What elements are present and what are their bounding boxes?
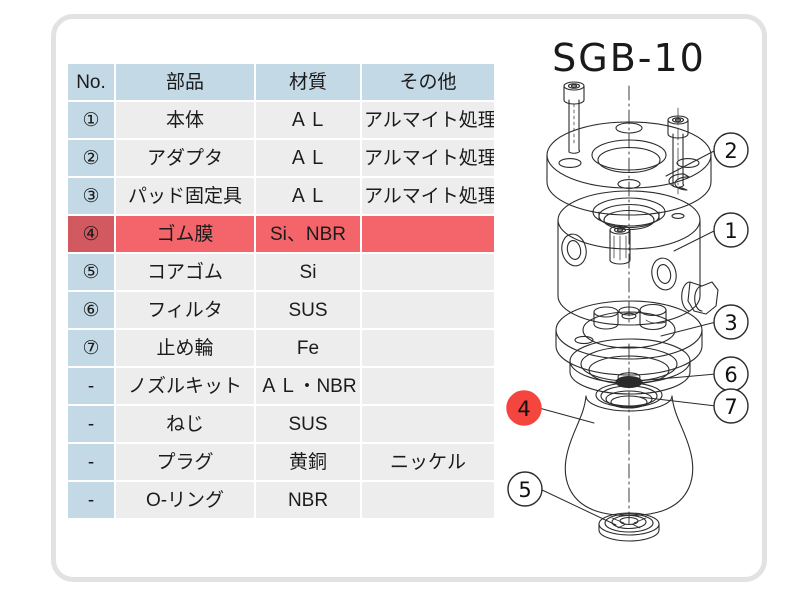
table-row: ⑦止め輪Fe bbox=[68, 330, 494, 366]
table-row: -プラグ黄銅ニッケル bbox=[68, 444, 494, 480]
table-row: ⑤コアゴムSi bbox=[68, 254, 494, 290]
cell-material: 黄銅 bbox=[256, 444, 360, 480]
cell-other bbox=[362, 216, 494, 252]
cell-other: アルマイト処理 bbox=[362, 102, 494, 138]
cell-material: Si、NBR bbox=[256, 216, 360, 252]
part-core-rubber bbox=[599, 513, 659, 541]
leader-line-3 bbox=[661, 322, 716, 336]
cell-other: アルマイト処理 bbox=[362, 178, 494, 214]
callout-group: 2136745 bbox=[507, 133, 748, 506]
cell-other bbox=[362, 292, 494, 328]
table-header-row: No. 部品 材質 その他 bbox=[68, 64, 494, 100]
cell-material: Fe bbox=[256, 330, 360, 366]
cell-other: アルマイト処理 bbox=[362, 140, 494, 176]
callout-5[interactable]: 5 bbox=[508, 472, 542, 506]
cell-material: ＡＬ bbox=[256, 102, 360, 138]
cell-no: - bbox=[68, 368, 114, 404]
cell-part: コアゴム bbox=[116, 254, 254, 290]
cell-other: ニッケル bbox=[362, 444, 494, 480]
callout-5-label: 5 bbox=[518, 478, 531, 502]
cell-material: Si bbox=[256, 254, 360, 290]
exploded-view-drawing: 2136745 bbox=[498, 24, 760, 564]
cell-part: パッド固定具 bbox=[116, 178, 254, 214]
cell-part: ノズルキット bbox=[116, 368, 254, 404]
table-row: -O-リングNBR bbox=[68, 482, 494, 518]
column-header-part: 部品 bbox=[116, 64, 254, 100]
callout-1[interactable]: 1 bbox=[714, 213, 748, 247]
column-header-no: No. bbox=[68, 64, 114, 100]
cell-no: - bbox=[68, 444, 114, 480]
table-body: ①本体ＡＬアルマイト処理②アダプタＡＬアルマイト処理③パッド固定具ＡＬアルマイト… bbox=[68, 102, 494, 518]
top-screw-left bbox=[564, 82, 584, 153]
cell-other bbox=[362, 330, 494, 366]
cell-material: ＡＬ bbox=[256, 140, 360, 176]
callout-7-label: 7 bbox=[724, 395, 737, 419]
cell-material: ＡＬ bbox=[256, 178, 360, 214]
cell-other bbox=[362, 482, 494, 518]
table-row: ①本体ＡＬアルマイト処理 bbox=[68, 102, 494, 138]
callout-7[interactable]: 7 bbox=[714, 389, 748, 423]
cell-no: - bbox=[68, 406, 114, 442]
callout-3[interactable]: 3 bbox=[714, 305, 748, 339]
product-diagram: SGB-10 bbox=[498, 24, 760, 564]
callout-4[interactable]: 4 bbox=[507, 391, 541, 425]
column-header-material: 材質 bbox=[256, 64, 360, 100]
cell-part: ゴム膜 bbox=[116, 216, 254, 252]
cell-material: ＡＬ・NBR bbox=[256, 368, 360, 404]
cell-part: O-リング bbox=[116, 482, 254, 518]
table-header: No. 部品 材質 その他 bbox=[68, 64, 494, 100]
leader-line-5 bbox=[540, 489, 616, 525]
table-row: -ねじSUS bbox=[68, 406, 494, 442]
table-row: ③パッド固定具ＡＬアルマイト処理 bbox=[68, 178, 494, 214]
callout-4-label: 4 bbox=[517, 397, 530, 421]
table-row: ②アダプタＡＬアルマイト処理 bbox=[68, 140, 494, 176]
cell-no: ② bbox=[68, 140, 114, 176]
cell-material: SUS bbox=[256, 292, 360, 328]
cell-part: ねじ bbox=[116, 406, 254, 442]
table-row: ⑥フィルタSUS bbox=[68, 292, 494, 328]
cell-no: ⑤ bbox=[68, 254, 114, 290]
leader-line-4 bbox=[539, 408, 594, 423]
parts-table: No. 部品 材質 その他 ①本体ＡＬアルマイト処理②アダプタＡＬアルマイト処理… bbox=[66, 62, 496, 520]
cell-other bbox=[362, 254, 494, 290]
cell-no: ③ bbox=[68, 178, 114, 214]
cell-no: ⑥ bbox=[68, 292, 114, 328]
callout-2-label: 2 bbox=[724, 139, 737, 163]
cell-part: 止め輪 bbox=[116, 330, 254, 366]
cell-no: ① bbox=[68, 102, 114, 138]
cell-part: プラグ bbox=[116, 444, 254, 480]
callout-1-label: 1 bbox=[724, 219, 737, 243]
cell-other bbox=[362, 406, 494, 442]
screenshot-root: No. 部品 材質 その他 ①本体ＡＬアルマイト処理②アダプタＡＬアルマイト処理… bbox=[0, 0, 800, 600]
cell-part: アダプタ bbox=[116, 140, 254, 176]
callout-6[interactable]: 6 bbox=[714, 357, 748, 391]
cell-other bbox=[362, 368, 494, 404]
table-row: -ノズルキットＡＬ・NBR bbox=[68, 368, 494, 404]
callout-2[interactable]: 2 bbox=[714, 133, 748, 167]
column-header-other: その他 bbox=[362, 64, 494, 100]
cell-part: フィルタ bbox=[116, 292, 254, 328]
part-main-body bbox=[558, 191, 718, 325]
cell-material: SUS bbox=[256, 406, 360, 442]
cell-no: ④ bbox=[68, 216, 114, 252]
cell-no: ⑦ bbox=[68, 330, 114, 366]
cell-material: NBR bbox=[256, 482, 360, 518]
table-row: ④ゴム膜Si、NBR bbox=[68, 216, 494, 252]
cell-no: - bbox=[68, 482, 114, 518]
callout-3-label: 3 bbox=[724, 311, 737, 335]
cell-part: 本体 bbox=[116, 102, 254, 138]
callout-6-label: 6 bbox=[724, 363, 737, 387]
